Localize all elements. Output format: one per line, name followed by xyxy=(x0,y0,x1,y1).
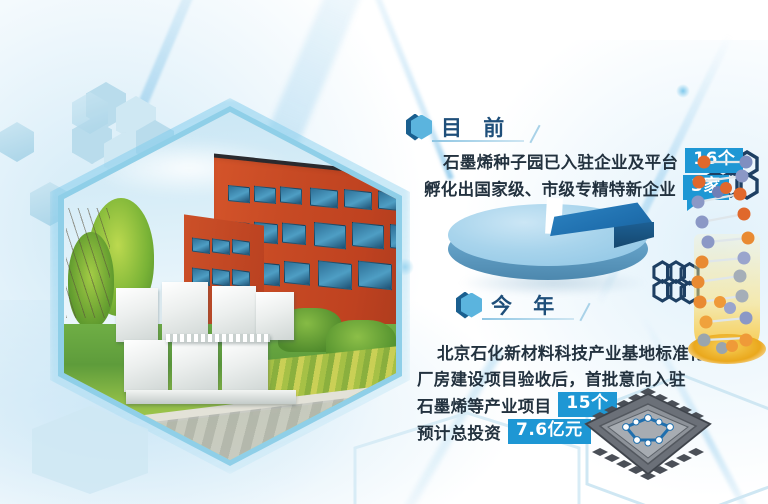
section-heading-current: 目 前 xyxy=(406,112,511,142)
park-name-sculpture xyxy=(116,282,296,402)
photo-bare-branches xyxy=(66,208,110,318)
infographic-canvas: 目 前 石墨烯种子园已入驻企业及平台 16个 孵化出国家级、市级专精特新企业 3… xyxy=(0,0,768,504)
pie-body xyxy=(444,196,656,282)
stat-label: 预计总投资 xyxy=(417,420,501,444)
glow-accent xyxy=(676,84,690,98)
pie-chart xyxy=(444,196,676,300)
stat-label: 北京石化新材料科技产业基地标准化 xyxy=(437,340,706,364)
stat-line: 预计总投资 7.6亿元 xyxy=(417,419,591,444)
hexagon-outline-icon xyxy=(30,404,150,501)
heading-slash xyxy=(529,125,540,144)
dna-helix-icon xyxy=(684,148,766,366)
stat-line: 北京石化新材料科技产业基地标准化 xyxy=(437,340,706,364)
light-streak xyxy=(336,0,454,180)
heading-slash xyxy=(579,303,590,322)
heading-underline xyxy=(482,318,574,320)
stat-label: 石墨烯等产业项目 xyxy=(417,393,551,417)
heading-underline xyxy=(432,140,524,142)
hexagon-plate-icon xyxy=(0,122,34,162)
hexagon-bullet-icon xyxy=(456,292,482,319)
section-title: 今 年 xyxy=(491,290,561,320)
hexagon-bullet-icon xyxy=(406,114,432,141)
section-title: 目 前 xyxy=(441,112,511,142)
microchip-icon xyxy=(574,386,722,482)
stat-label: 石墨烯种子园已入驻企业及平台 xyxy=(443,149,678,173)
section-heading-this-year: 今 年 xyxy=(456,290,561,320)
